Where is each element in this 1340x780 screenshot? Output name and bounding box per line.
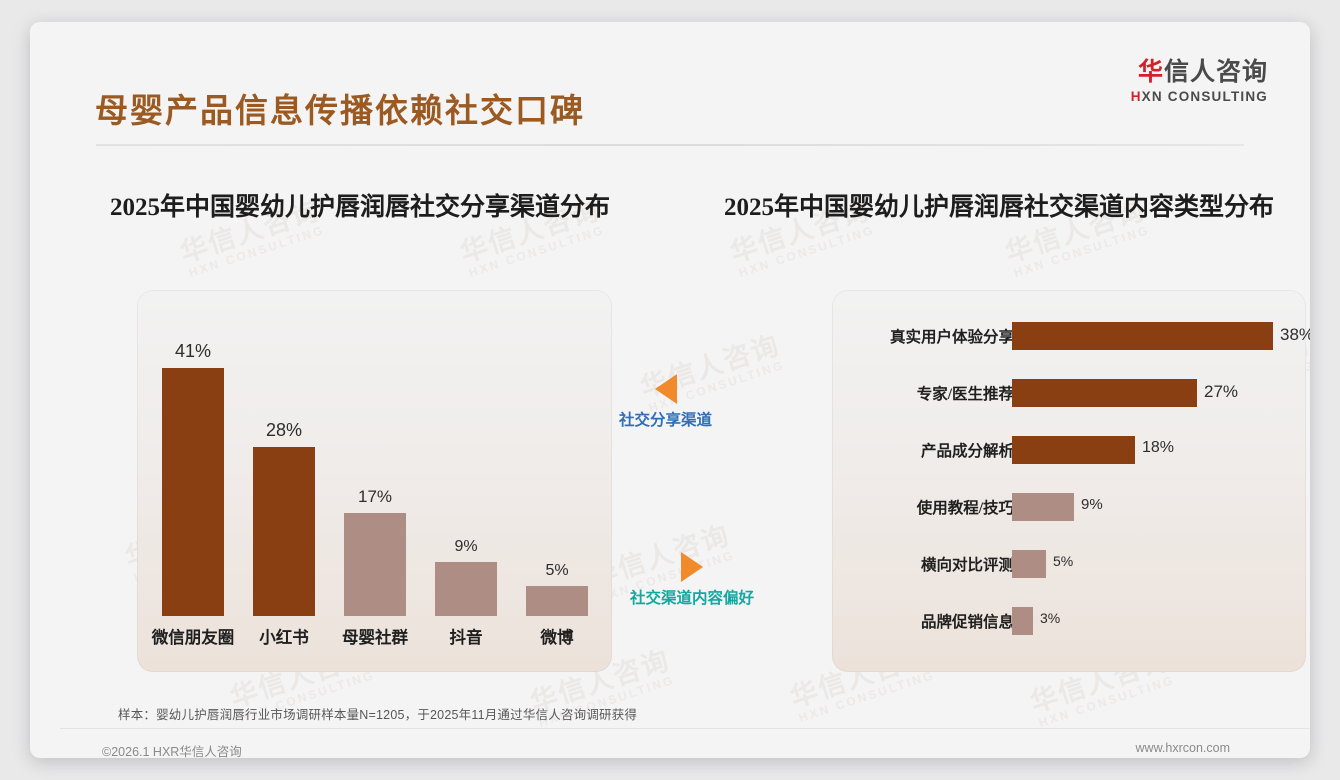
logo-en-red: H <box>1131 89 1142 104</box>
bar-category-label: 产品成分解析 <box>921 439 1014 461</box>
bar-group: 9%抖音 <box>435 562 497 616</box>
bar-value-label: 9% <box>454 538 477 556</box>
bar-category-label: 真实用户体验分享 <box>890 325 1014 347</box>
bar-value-label: 41% <box>175 341 211 362</box>
chart-title-right: 2025年中国婴幼儿护唇润唇社交渠道内容类型分布 <box>724 187 1274 223</box>
bar-category-label: 专家/医生推荐 <box>917 382 1014 404</box>
bar-row: 使用教程/技巧9% <box>832 493 1306 521</box>
triangle-left-icon <box>655 374 677 404</box>
slide-root: 华信人咨询HXN CONSULTING华信人咨询HXN CONSULTING华信… <box>0 0 1340 780</box>
bar <box>1012 436 1135 464</box>
bar-value-label: 3% <box>1040 610 1060 626</box>
vertical-bar-chart: 41%微信朋友圈28%小红书17%母婴社群9%抖音5%微博 <box>137 290 612 672</box>
bar-row: 专家/医生推荐27% <box>832 379 1306 407</box>
logo-en-rest: XN CONSULTING <box>1142 89 1268 104</box>
website-text: www.hxrcon.com <box>1136 741 1230 755</box>
bar-group: 41%微信朋友圈 <box>162 368 224 616</box>
bar-row: 品牌促销信息3% <box>832 607 1306 635</box>
copyright-text: ©2026.1 HXR华信人咨询 <box>102 741 242 758</box>
logo-chinese: 华信人咨询 <box>1131 58 1268 87</box>
annotation-label-1: 社交分享渠道 <box>619 408 712 430</box>
page-title: 母婴产品信息传播依赖社交口碑 <box>95 84 585 132</box>
bar <box>1012 550 1046 578</box>
bar-value-label: 38% <box>1280 325 1310 345</box>
logo-cn-rest: 信人咨询 <box>1164 58 1268 86</box>
bar-row: 产品成分解析18% <box>832 436 1306 464</box>
chart-title-left: 2025年中国婴幼儿护唇润唇社交分享渠道分布 <box>110 187 610 223</box>
bar-value-label: 17% <box>358 487 392 507</box>
bar <box>1012 322 1273 350</box>
bar <box>253 447 315 616</box>
bar-value-label: 5% <box>545 562 568 580</box>
bar-group: 5%微博 <box>526 586 588 616</box>
bar-row: 真实用户体验分享38% <box>832 322 1306 350</box>
annotation-label-2: 社交渠道内容偏好 <box>630 586 754 608</box>
annotation-social-share-channel: 社交分享渠道 <box>619 374 712 430</box>
horizontal-bar-chart: 真实用户体验分享38%专家/医生推荐27%产品成分解析18%使用教程/技巧9%横… <box>832 290 1306 672</box>
logo-cn-red: 华 <box>1138 58 1164 86</box>
bar-value-label: 28% <box>266 420 302 441</box>
bar-value-label: 5% <box>1053 553 1073 569</box>
header: 母婴产品信息传播依赖社交口碑 华信人咨询 HXN CONSULTING <box>30 22 1310 118</box>
sample-footnote: 样本：婴幼儿护唇润唇行业市场调研样本量N=1205，于2025年11月通过华信人… <box>118 704 637 723</box>
bar <box>162 368 224 616</box>
bar <box>1012 493 1074 521</box>
bar <box>435 562 497 616</box>
brand-logo: 华信人咨询 HXN CONSULTING <box>1131 58 1268 104</box>
bar <box>526 586 588 616</box>
bar-category-label: 微信朋友圈 <box>152 624 235 648</box>
triangle-right-icon <box>681 552 703 582</box>
bar-category-label: 抖音 <box>450 624 483 648</box>
bar-group: 17%母婴社群 <box>344 513 406 616</box>
bar-row: 横向对比评测5% <box>832 550 1306 578</box>
page-card: 华信人咨询HXN CONSULTING华信人咨询HXN CONSULTING华信… <box>30 22 1310 758</box>
header-divider <box>96 144 1244 146</box>
bar-group: 28%小红书 <box>253 447 315 616</box>
bar-value-label: 27% <box>1204 382 1238 402</box>
footer-divider <box>60 728 1310 729</box>
bar-category-label: 小红书 <box>259 624 309 648</box>
bar-category-label: 横向对比评测 <box>921 553 1014 575</box>
bar <box>1012 379 1197 407</box>
bar-value-label: 18% <box>1142 439 1174 457</box>
bar <box>344 513 406 616</box>
annotation-content-preference: 社交渠道内容偏好 <box>630 552 754 608</box>
bar <box>1012 607 1033 635</box>
bar-category-label: 母婴社群 <box>342 624 408 648</box>
bar-category-label: 使用教程/技巧 <box>917 496 1014 518</box>
bar-value-label: 9% <box>1081 496 1103 513</box>
bar-category-label: 品牌促销信息 <box>921 610 1014 632</box>
bar-category-label: 微博 <box>541 624 574 648</box>
logo-english: HXN CONSULTING <box>1131 89 1268 104</box>
